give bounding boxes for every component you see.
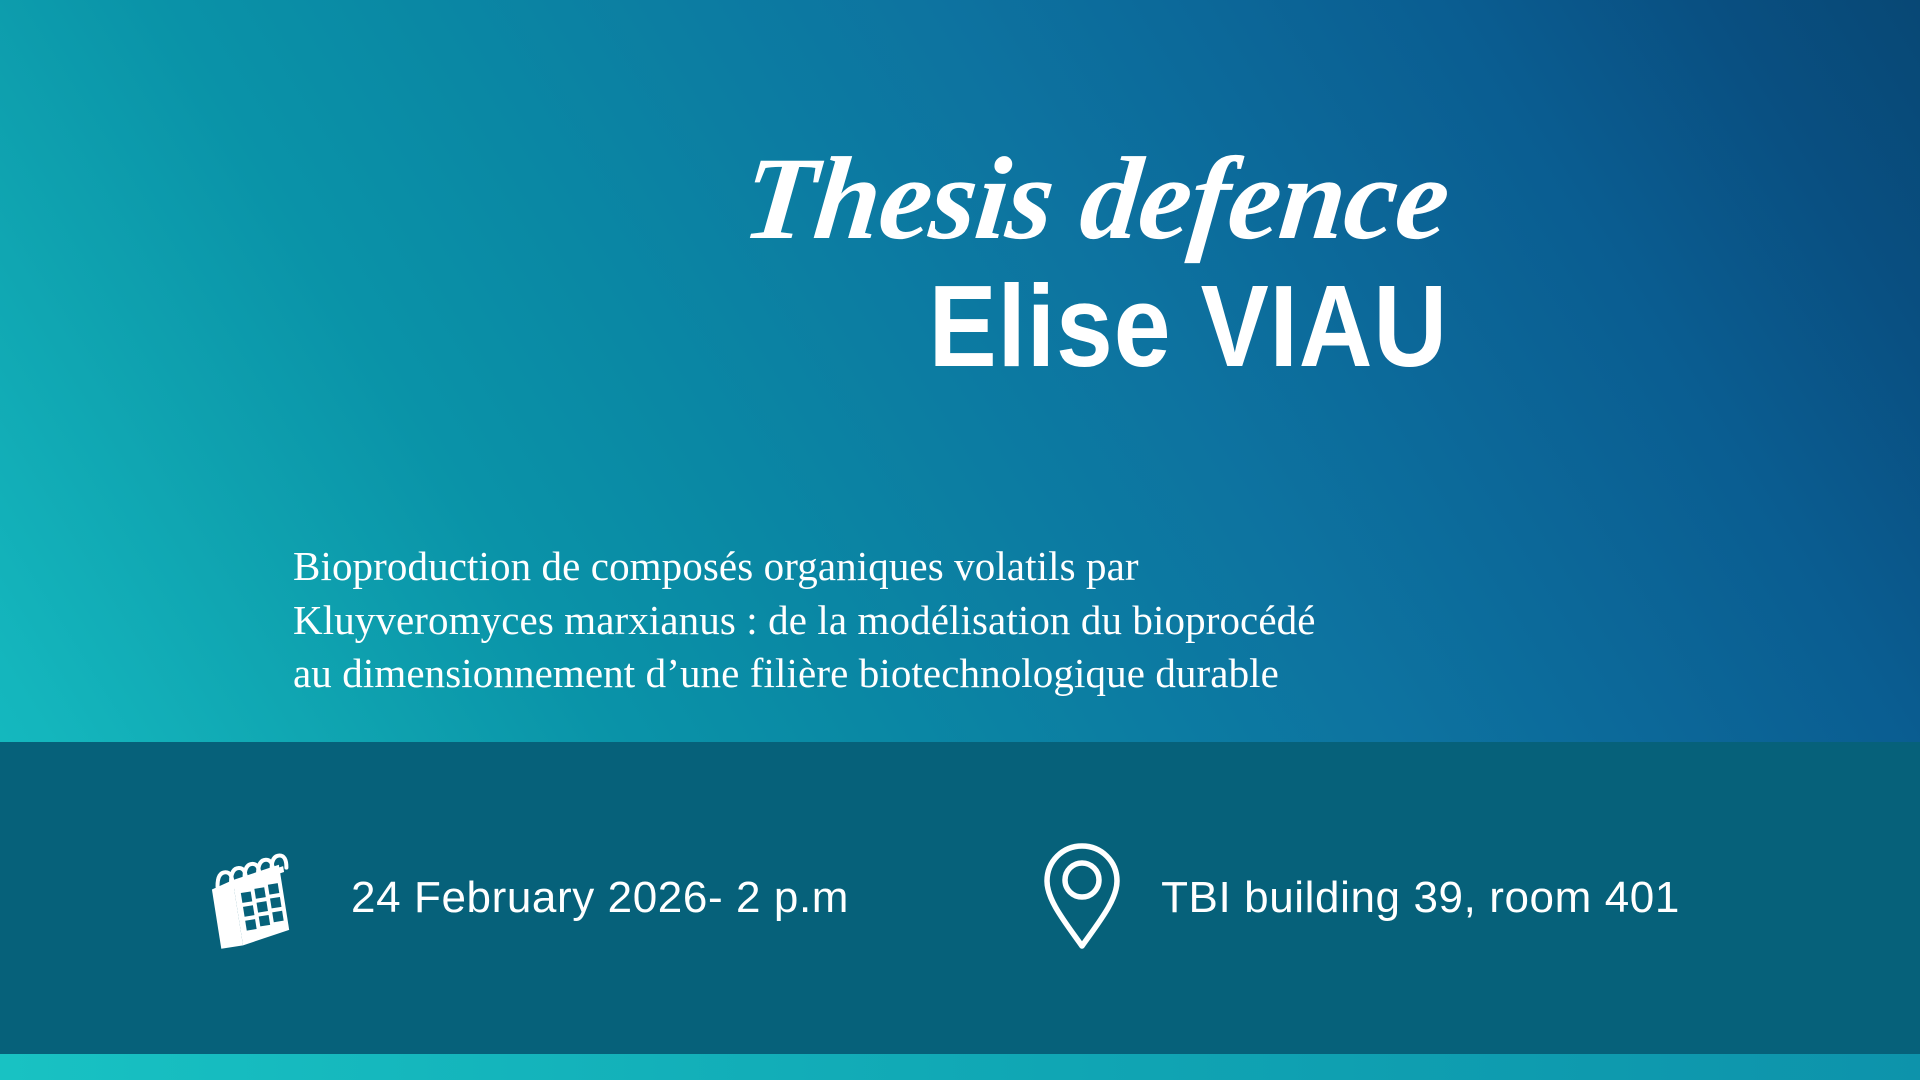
presenter-name: Elise VIAU: [392, 268, 1448, 384]
event-label: Thesis defence: [242, 140, 1454, 258]
thesis-title: Bioproduction de composés organiques vol…: [293, 540, 1353, 701]
map-pin-icon: [1039, 838, 1125, 959]
event-datetime-group: 24 February 2026- 2 p.m: [192, 840, 849, 957]
footer-content: 24 February 2026- 2 p.m TBI building 39,…: [0, 838, 1920, 959]
bottom-accent-strip: [0, 1054, 1920, 1080]
footer-bar: 24 February 2026- 2 p.m TBI building 39,…: [0, 742, 1920, 1054]
thesis-defence-poster: Thesis defence Elise VIAU Bioproduction …: [0, 0, 1920, 1080]
calendar-icon: [192, 840, 304, 957]
event-location-text: TBI building 39, room 401: [1161, 873, 1680, 923]
event-datetime-text: 24 February 2026- 2 p.m: [351, 873, 849, 923]
event-location-group: TBI building 39, room 401: [1039, 838, 1680, 959]
